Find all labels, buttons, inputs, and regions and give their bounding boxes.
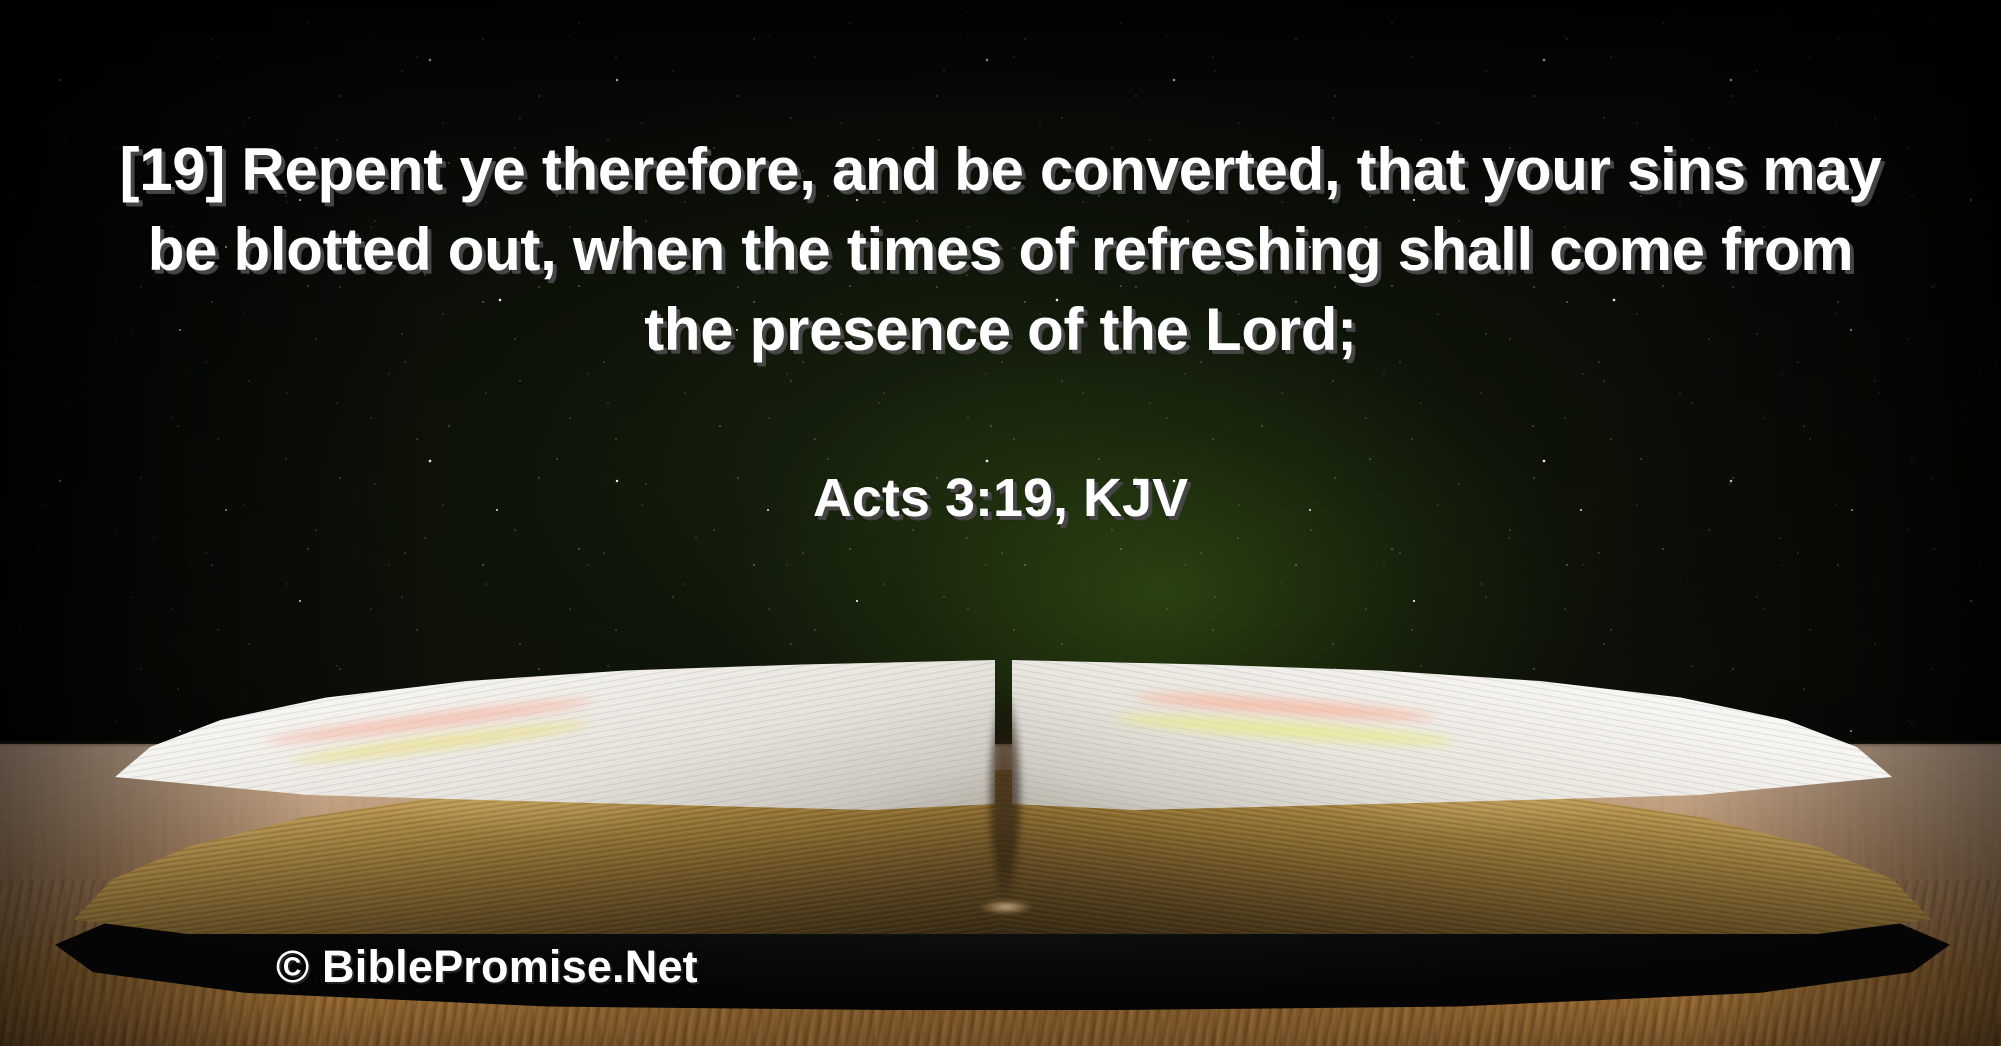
bible-spine-stitching: [973, 896, 1039, 918]
open-bible: [55, 660, 1950, 1020]
bible-page-left: [115, 660, 995, 810]
page-printed-text-left: [115, 660, 995, 810]
bible-page-right: [1012, 660, 1892, 810]
sky-vignette: [0, 0, 2001, 760]
page-printed-text-right: [1012, 660, 1892, 810]
verse-image-card: [19] Repent ye therefore, and be convert…: [0, 0, 2001, 1046]
